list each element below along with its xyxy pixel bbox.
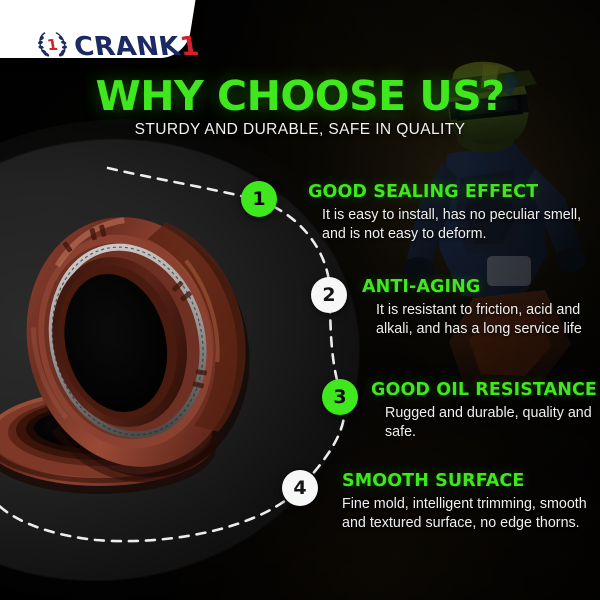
feature-title-1: GOOD SEALING EFFECT: [308, 183, 594, 203]
brand-wordmark: CRANK1: [72, 34, 201, 60]
feature-title-2: ANTI-AGING: [362, 278, 598, 298]
feature-title-4: SMOOTH SURFACE: [342, 472, 598, 492]
feature-body-4: Fine mold, intelligent trimming, smooth …: [342, 495, 598, 534]
product-image-oil-seals: [0, 192, 282, 532]
svg-text:1: 1: [46, 36, 59, 54]
feature-badge-4[interactable]: 4: [282, 470, 318, 506]
brand-name-main: CRANK: [72, 32, 182, 62]
feature-badge-3[interactable]: 3: [322, 379, 358, 415]
brand-name-accent: 1: [178, 32, 202, 62]
laurel-wreath-icon: 1: [33, 30, 72, 60]
feature-item-3: GOOD OIL RESISTANCE Rugged and durable, …: [371, 381, 599, 443]
feature-item-4: SMOOTH SURFACE Fine mold, intelligent tr…: [342, 472, 598, 534]
feature-item-2: ANTI-AGING It is resistant to friction, …: [362, 278, 598, 340]
page-title: WHY CHOOSE US?: [0, 76, 600, 117]
feature-badge-2[interactable]: 2: [311, 277, 347, 313]
brand-logo[interactable]: 1 CRANK1: [0, 0, 218, 72]
promo-banner: 1 CRANK1 WHY CHOOSE US? STURDY AND DURAB…: [0, 0, 600, 600]
feature-body-1: It is easy to install, has no peculiar s…: [308, 206, 594, 245]
feature-title-3: GOOD OIL RESISTANCE: [371, 381, 599, 401]
feature-item-1: GOOD SEALING EFFECT It is easy to instal…: [308, 183, 594, 245]
feature-body-3: Rugged and durable, quality and safe.: [371, 404, 599, 443]
feature-body-2: It is resistant to friction, acid and al…: [362, 301, 598, 340]
feature-badge-1[interactable]: 1: [241, 181, 277, 217]
page-subtitle: STURDY AND DURABLE, SAFE IN QUALITY: [0, 121, 600, 139]
